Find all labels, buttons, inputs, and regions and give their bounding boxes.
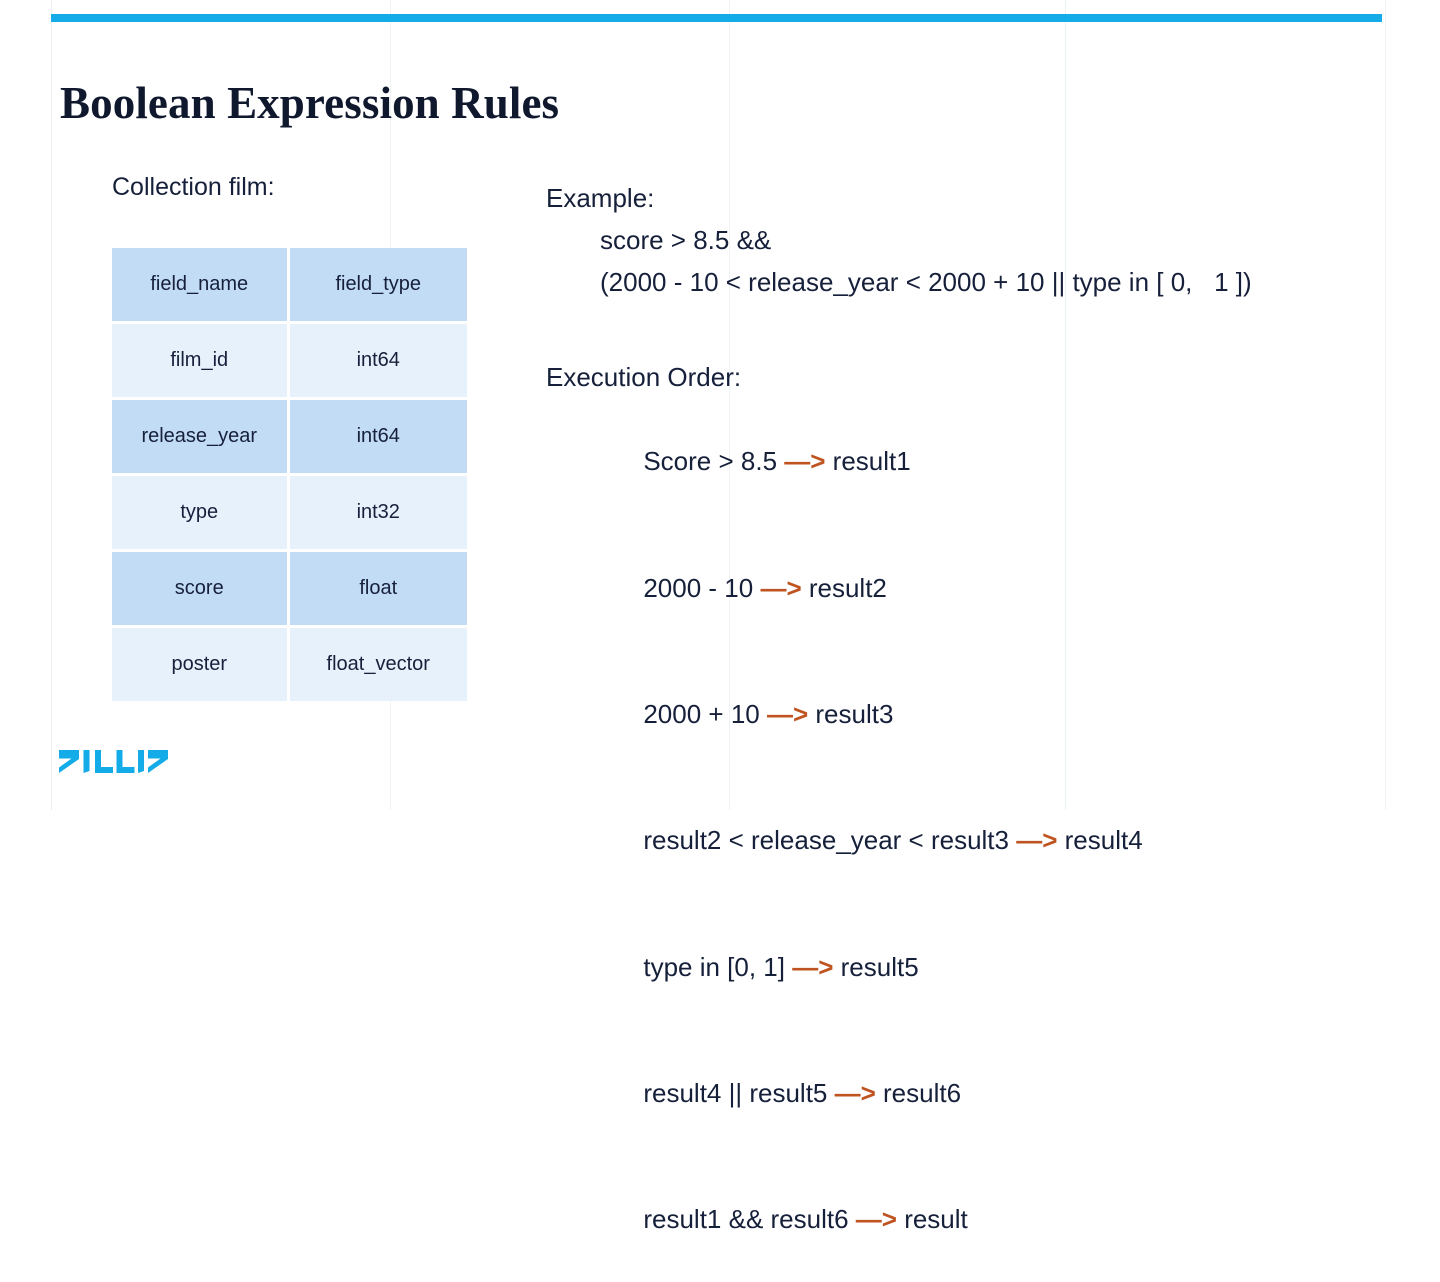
table-row: film_id int64 xyxy=(112,324,467,400)
example-heading: Example: xyxy=(546,177,1252,219)
execution-step-expression: result1 && result6 xyxy=(643,1204,855,1234)
arrow-icon: —> xyxy=(760,573,801,603)
top-accent-bar xyxy=(51,14,1382,22)
table-row: poster float_vector xyxy=(112,628,467,701)
cell-field-type: float_vector xyxy=(290,628,468,701)
execution-step-expression: 2000 - 10 xyxy=(643,573,760,603)
execution-step: 2000 - 10 —> result2 xyxy=(546,524,1143,650)
arrow-icon: —> xyxy=(1016,825,1057,855)
execution-order-block: Execution Order: Score > 8.5 —> result1 … xyxy=(546,356,1143,1282)
cell-field-name: film_id xyxy=(112,324,290,400)
execution-step-result: result6 xyxy=(876,1078,961,1108)
execution-step-expression: 2000 + 10 xyxy=(643,699,767,729)
execution-step: result1 && result6 —> result xyxy=(546,1156,1143,1282)
cell-field-name: release_year xyxy=(112,400,290,476)
execution-step-result: result5 xyxy=(833,952,918,982)
execution-step: type in [0, 1] —> result5 xyxy=(546,903,1143,1029)
arrow-icon: —> xyxy=(792,952,833,982)
zilliz-logo xyxy=(58,748,170,778)
example-block: Example: score > 8.5 && (2000 - 10 < rel… xyxy=(546,177,1252,303)
table-row: release_year int64 xyxy=(112,400,467,476)
execution-step-result: result xyxy=(897,1204,968,1234)
slide-canvas: Boolean Expression Rules Collection film… xyxy=(0,0,1440,810)
cell-field-type: int64 xyxy=(290,400,468,476)
example-line: (2000 - 10 < release_year < 2000 + 10 ||… xyxy=(546,261,1252,303)
execution-step: result2 < release_year < result3 —> resu… xyxy=(546,777,1143,903)
table-row: score float xyxy=(112,552,467,628)
cell-field-name: score xyxy=(112,552,290,628)
cell-field-name: type xyxy=(112,476,290,552)
collection-label: Collection film: xyxy=(112,173,275,202)
column-header-field-name: field_name xyxy=(112,248,290,324)
execution-step: 2000 + 10 —> result3 xyxy=(546,651,1143,777)
template-guide-line xyxy=(1385,0,1386,810)
schema-table-body: field_name field_type film_id int64 rele… xyxy=(112,248,467,701)
execution-step-expression: type in [0, 1] xyxy=(643,952,792,982)
column-header-field-type: field_type xyxy=(290,248,468,324)
table-row: type int32 xyxy=(112,476,467,552)
arrow-icon: —> xyxy=(856,1204,897,1234)
template-guide-line xyxy=(51,0,52,810)
execution-step-result: result2 xyxy=(802,573,887,603)
arrow-icon: —> xyxy=(784,446,825,476)
execution-step: result4 || result5 —> result6 xyxy=(546,1030,1143,1156)
execution-step-expression: Score > 8.5 xyxy=(643,446,784,476)
cell-field-type: int32 xyxy=(290,476,468,552)
execution-step-result: result1 xyxy=(825,446,910,476)
schema-table: field_name field_type film_id int64 rele… xyxy=(112,248,467,701)
execution-step-result: result3 xyxy=(808,699,893,729)
execution-step-result: result4 xyxy=(1057,825,1142,855)
execution-step: Score > 8.5 —> result1 xyxy=(546,398,1143,524)
cell-field-type: float xyxy=(290,552,468,628)
execution-step-expression: result4 || result5 xyxy=(643,1078,834,1108)
cell-field-name: poster xyxy=(112,628,290,701)
page-title: Boolean Expression Rules xyxy=(60,77,559,130)
execution-order-heading: Execution Order: xyxy=(546,356,1143,398)
cell-field-type: int64 xyxy=(290,324,468,400)
table-header-row: field_name field_type xyxy=(112,248,467,324)
arrow-icon: —> xyxy=(835,1078,876,1108)
execution-step-expression: result2 < release_year < result3 xyxy=(643,825,1016,855)
example-line: score > 8.5 && xyxy=(546,219,1252,261)
arrow-icon: —> xyxy=(767,699,808,729)
